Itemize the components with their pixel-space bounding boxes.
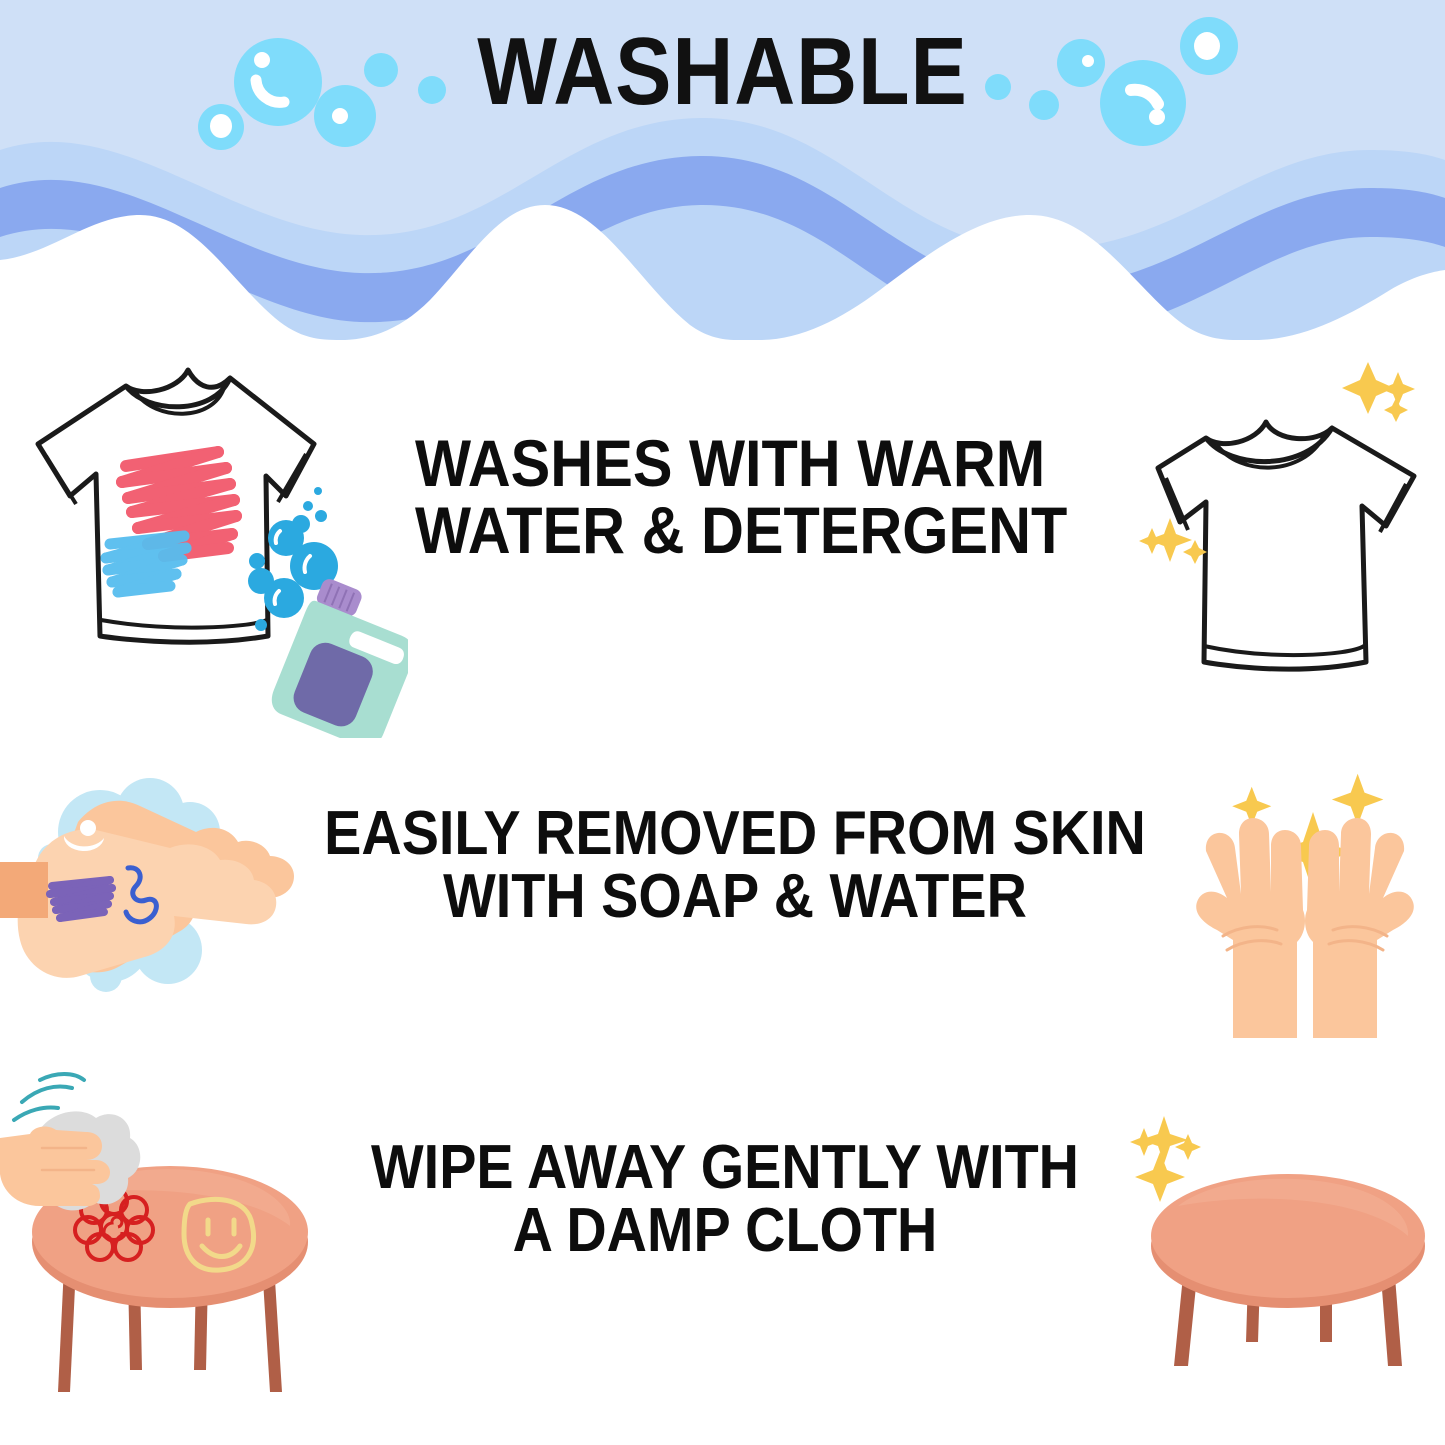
feature-row-wash: WASHES WITH WARM WATER & DETERGENT	[0, 330, 1445, 730]
clean-hands-illustration	[1165, 760, 1445, 1060]
feature-row-skin: EASILY REMOVED FROM SKIN WITH SOAP & WAT…	[0, 760, 1445, 1060]
sparkle-icon	[1135, 1152, 1185, 1202]
row3-line-1: WIPE AWAY GENTLY WITH	[370, 1136, 1081, 1199]
sparkle-cluster-table	[1130, 1116, 1201, 1202]
row1-line-1: WASHES WITH WARM	[415, 430, 1045, 497]
row1-text-block: WASHES WITH WARM WATER & DETERGENT	[415, 430, 1045, 565]
row2-line-1: EASILY REMOVED FROM SKIN	[308, 802, 1163, 865]
dirty-tshirt-illustration	[18, 348, 408, 738]
feature-row-table: WIPE AWAY GENTLY WITH A DAMP CLOTH	[0, 1070, 1445, 1445]
sparkle-icon	[1384, 398, 1408, 422]
header-banner: WASHABLE	[0, 0, 1445, 340]
sparkle-cluster-left	[1139, 518, 1207, 564]
row3-line-2: A DAMP CLOTH	[370, 1199, 1081, 1262]
sparkle-icon	[1381, 372, 1415, 406]
sleeve-cuff	[0, 862, 48, 918]
page-title: WASHABLE	[87, 22, 1359, 123]
clean-table-illustration	[1108, 1090, 1438, 1420]
hands-washing-illustration	[0, 770, 300, 1050]
sparkle-icon	[1130, 1128, 1158, 1156]
wiping-hand	[0, 1127, 110, 1206]
clean-tshirt-illustration	[1118, 350, 1438, 710]
row3-text-block: WIPE AWAY GENTLY WITH A DAMP CLOTH	[370, 1136, 1081, 1262]
sparkle-icon	[1332, 774, 1384, 826]
row2-text-block: EASILY REMOVED FROM SKIN WITH SOAP & WAT…	[308, 802, 1163, 928]
sparkle-icon	[1139, 528, 1165, 554]
purple-crayon-scribble	[50, 880, 112, 918]
blue-crayon-scribble	[106, 536, 186, 592]
row2-line-2: WITH SOAP & WATER	[308, 865, 1163, 928]
sparkle-cluster-top-right	[1342, 362, 1415, 422]
dirty-table-illustration	[0, 1070, 350, 1430]
row1-line-2: WATER & DETERGENT	[415, 497, 1045, 564]
infographic-canvas: WASHABLE	[0, 0, 1445, 1445]
